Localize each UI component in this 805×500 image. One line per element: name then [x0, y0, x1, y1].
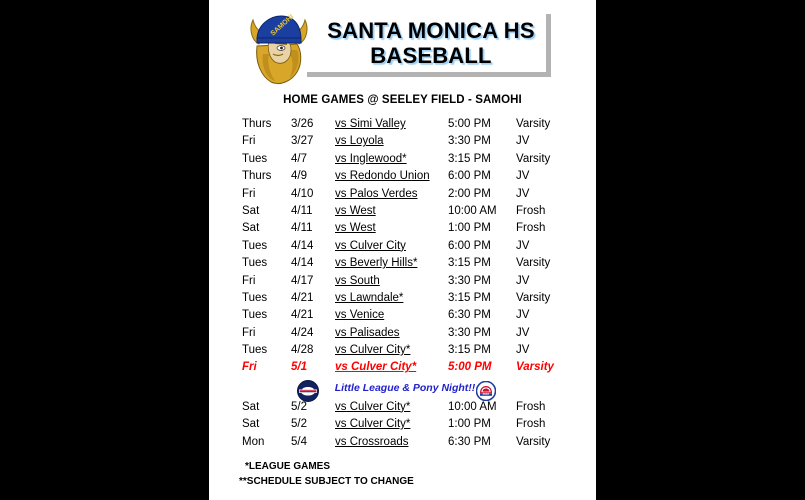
schedule-cell-date: 4/21: [291, 292, 313, 304]
schedule-cell-time: 1:00 PM: [448, 418, 491, 430]
schedule-cell-day: Fri: [242, 327, 255, 339]
schedule-cell-day: Sat: [242, 418, 259, 430]
schedule-cell-opponent[interactable]: vs Palisades: [335, 327, 400, 339]
schedule-cell-time: 6:30 PM: [448, 309, 491, 321]
schedule-row: Fri5/1vs Culver City*5:00 PMVarsity: [209, 361, 596, 378]
schedule-cell-opponent[interactable]: vs Crossroads: [335, 436, 409, 448]
schedule-row: Tues4/21vs Lawndale*3:15 PMVarsity: [209, 292, 596, 309]
schedule-cell-level: JV: [516, 240, 529, 252]
schedule-cell-level: JV: [516, 188, 529, 200]
schedule-cell-time: 3:15 PM: [448, 257, 491, 269]
schedule-cell-level: Frosh: [516, 401, 545, 413]
schedule-cell-time: 3:15 PM: [448, 292, 491, 304]
pony-baseball-logo-icon: PONY: [476, 381, 496, 401]
schedule-cell-date: 4/21: [291, 309, 313, 321]
schedule-cell-day: Thurs: [242, 118, 271, 130]
schedule-cell-time: 3:30 PM: [448, 327, 491, 339]
schedule-row: Sat4/11vs West10:00 AMFrosh: [209, 205, 596, 222]
schedule-table: Thurs3/26vs Simi Valley5:00 PMVarsityFri…: [209, 118, 596, 453]
schedule-cell-day: Sat: [242, 205, 259, 217]
svg-text:PONY: PONY: [483, 394, 490, 396]
schedule-cell-date: 4/14: [291, 240, 313, 252]
schedule-row: Fri4/24vs Palisades3:30 PMJV: [209, 327, 596, 344]
schedule-cell-opponent[interactable]: vs West: [335, 205, 376, 217]
schedule-cell-day: Sat: [242, 401, 259, 413]
schedule-cell-day: Fri: [242, 361, 257, 373]
footnote-league-games: *LEAGUE GAMES: [209, 459, 596, 474]
schedule-cell-date: 4/11: [291, 222, 313, 234]
flyer-header: SAMOHI SANTA MONICA HS BASEBALL: [209, 0, 596, 88]
schedule-row: Mon5/4vs Crossroads6:30 PMVarsity: [209, 436, 596, 453]
schedule-row: Fri4/10vs Palos Verdes2:00 PMJV: [209, 188, 596, 205]
footnotes: *LEAGUE GAMES **SCHEDULE SUBJECT TO CHAN…: [209, 459, 596, 489]
schedule-cell-time: 10:00 AM: [448, 205, 497, 217]
schedule-cell-date: 3/26: [291, 118, 313, 130]
schedule-cell-time: 5:00 PM: [448, 118, 491, 130]
schedule-cell-date: 5/2: [291, 418, 307, 430]
schedule-row: Tues4/7vs Inglewood*3:15 PMVarsity: [209, 153, 596, 170]
schedule-cell-date: 4/17: [291, 275, 313, 287]
schedule-cell-level: JV: [516, 327, 529, 339]
schedule-cell-time: 6:00 PM: [448, 240, 491, 252]
schedule-cell-day: Fri: [242, 188, 255, 200]
schedule-cell-time: 1:00 PM: [448, 222, 491, 234]
schedule-cell-time: 3:15 PM: [448, 153, 491, 165]
little-league-logo-icon: [297, 380, 319, 402]
schedule-cell-opponent[interactable]: vs Lawndale*: [335, 292, 403, 304]
schedule-cell-opponent[interactable]: vs Loyola: [335, 135, 384, 147]
schedule-cell-level: Frosh: [516, 222, 545, 234]
flyer-page: SAMOHI SANTA MONICA HS BASEBALL HOME GAM…: [209, 0, 596, 500]
schedule-cell-level: JV: [516, 309, 529, 321]
schedule-cell-opponent[interactable]: vs Culver City: [335, 240, 406, 252]
schedule-cell-time: 3:30 PM: [448, 275, 491, 287]
promo-row: Little League & Pony Night!!PONY: [209, 379, 596, 401]
schedule-cell-level: Varsity: [516, 153, 550, 165]
schedule-cell-day: Thurs: [242, 170, 271, 182]
schedule-cell-day: Tues: [242, 344, 267, 356]
schedule-cell-time: 5:00 PM: [448, 361, 491, 373]
footnote-subject-to-change: **SCHEDULE SUBJECT TO CHANGE: [209, 474, 596, 489]
schedule-cell-time: 2:00 PM: [448, 188, 491, 200]
schedule-cell-opponent[interactable]: vs Culver City*: [335, 418, 410, 430]
schedule-cell-level: JV: [516, 275, 529, 287]
schedule-cell-level: Varsity: [516, 436, 550, 448]
schedule-cell-date: 4/14: [291, 257, 313, 269]
schedule-cell-time: 3:30 PM: [448, 135, 491, 147]
schedule-cell-opponent[interactable]: vs Simi Valley: [335, 118, 406, 130]
schedule-cell-day: Tues: [242, 309, 267, 321]
schedule-cell-opponent[interactable]: vs Inglewood*: [335, 153, 407, 165]
schedule-cell-day: Tues: [242, 257, 267, 269]
title-block: SANTA MONICA HS BASEBALL: [305, 12, 555, 82]
schedule-cell-level: JV: [516, 135, 529, 147]
schedule-cell-day: Tues: [242, 153, 267, 165]
schedule-row: Sat5/2vs Culver City*10:00 AMFrosh: [209, 401, 596, 418]
schedule-cell-date: 5/4: [291, 436, 307, 448]
schedule-cell-level: Varsity: [516, 292, 550, 304]
schedule-cell-level: JV: [516, 344, 529, 356]
schedule-cell-opponent[interactable]: vs South: [335, 275, 380, 287]
schedule-cell-day: Mon: [242, 436, 264, 448]
schedule-cell-time: 6:00 PM: [448, 170, 491, 182]
schedule-cell-opponent[interactable]: vs Redondo Union: [335, 170, 430, 182]
schedule-cell-date: 3/27: [291, 135, 313, 147]
schedule-row: Sat4/11vs West1:00 PMFrosh: [209, 222, 596, 239]
schedule-row: Tues4/21vs Venice6:30 PMJV: [209, 309, 596, 326]
schedule-cell-day: Sat: [242, 222, 259, 234]
schedule-row: Tues4/28vs Culver City*3:15 PMJV: [209, 344, 596, 361]
promo-text: Little League & Pony Night!!: [325, 382, 485, 394]
schedule-cell-time: 3:15 PM: [448, 344, 491, 356]
schedule-cell-date: 4/28: [291, 344, 313, 356]
schedule-cell-opponent[interactable]: vs Culver City*: [335, 344, 410, 356]
schedule-cell-day: Tues: [242, 240, 267, 252]
schedule-cell-date: 4/7: [291, 153, 307, 165]
schedule-row: Thurs4/9vs Redondo Union6:00 PMJV: [209, 170, 596, 187]
schedule-cell-opponent[interactable]: vs Venice: [335, 309, 384, 321]
schedule-cell-time: 6:30 PM: [448, 436, 491, 448]
schedule-cell-date: 4/10: [291, 188, 313, 200]
schedule-cell-level: Varsity: [516, 118, 550, 130]
schedule-cell-opponent[interactable]: vs West: [335, 222, 376, 234]
schedule-row: Tues4/14vs Beverly Hills*3:15 PMVarsity: [209, 257, 596, 274]
schedule-row: Fri3/27vs Loyola3:30 PMJV: [209, 135, 596, 152]
header-subtitle: HOME GAMES @ SEELEY FIELD - SAMOHI: [209, 94, 596, 106]
schedule-cell-day: Fri: [242, 275, 255, 287]
schedule-row: Sat5/2vs Culver City*1:00 PMFrosh: [209, 418, 596, 435]
schedule-cell-opponent[interactable]: vs Beverly Hills*: [335, 257, 417, 269]
schedule-cell-level: Frosh: [516, 418, 545, 430]
schedule-cell-date: 4/24: [291, 327, 313, 339]
schedule-cell-date: 4/9: [291, 170, 307, 182]
schedule-cell-time: 10:00 AM: [448, 401, 497, 413]
schedule-cell-date: 4/11: [291, 205, 313, 217]
schedule-cell-level: Frosh: [516, 205, 545, 217]
schedule-cell-opponent[interactable]: vs Palos Verdes: [335, 188, 417, 200]
schedule-cell-day: Fri: [242, 135, 255, 147]
schedule-cell-day: Tues: [242, 292, 267, 304]
schedule-cell-date: 5/1: [291, 361, 307, 373]
screenshot-stage: SAMOHI SANTA MONICA HS BASEBALL HOME GAM…: [0, 0, 805, 500]
schedule-cell-level: Varsity: [516, 257, 550, 269]
schedule-cell-level: Varsity: [516, 361, 554, 373]
schedule-cell-opponent[interactable]: vs Culver City*: [335, 401, 410, 413]
schedule-cell-level: JV: [516, 170, 529, 182]
schedule-cell-opponent[interactable]: vs Culver City*: [335, 361, 416, 373]
schedule-row: Thurs3/26vs Simi Valley5:00 PMVarsity: [209, 118, 596, 135]
schedule-row: Fri4/17vs South3:30 PMJV: [209, 275, 596, 292]
schedule-cell-date: 5/2: [291, 401, 307, 413]
schedule-row: Tues4/14vs Culver City6:00 PMJV: [209, 240, 596, 257]
page-title: SANTA MONICA HS BASEBALL: [315, 18, 547, 68]
